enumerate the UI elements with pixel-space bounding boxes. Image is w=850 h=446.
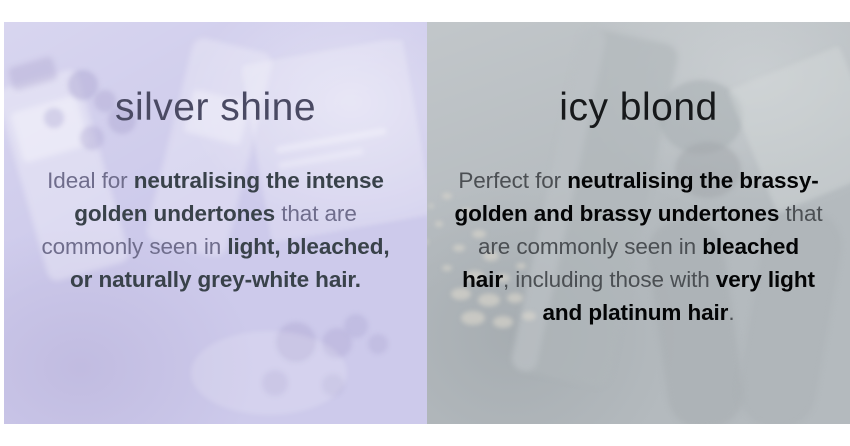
panel-title: icy blond bbox=[559, 88, 717, 127]
panel-body-text: Ideal for neutralising the intense golde… bbox=[4, 164, 427, 296]
dual-panel-banner: silver shine Ideal for neutralising the … bbox=[4, 22, 850, 424]
panel-silver-shine: silver shine Ideal for neutralising the … bbox=[4, 22, 427, 424]
panel-content: icy blond Perfect for neutralising the b… bbox=[427, 22, 850, 424]
panel-content: silver shine Ideal for neutralising the … bbox=[4, 22, 427, 424]
panel-icy-blond: icy blond Perfect for neutralising the b… bbox=[427, 22, 850, 424]
panel-body-text: Perfect for neutralising the brassy-gold… bbox=[427, 164, 850, 329]
panel-title: silver shine bbox=[115, 88, 316, 127]
